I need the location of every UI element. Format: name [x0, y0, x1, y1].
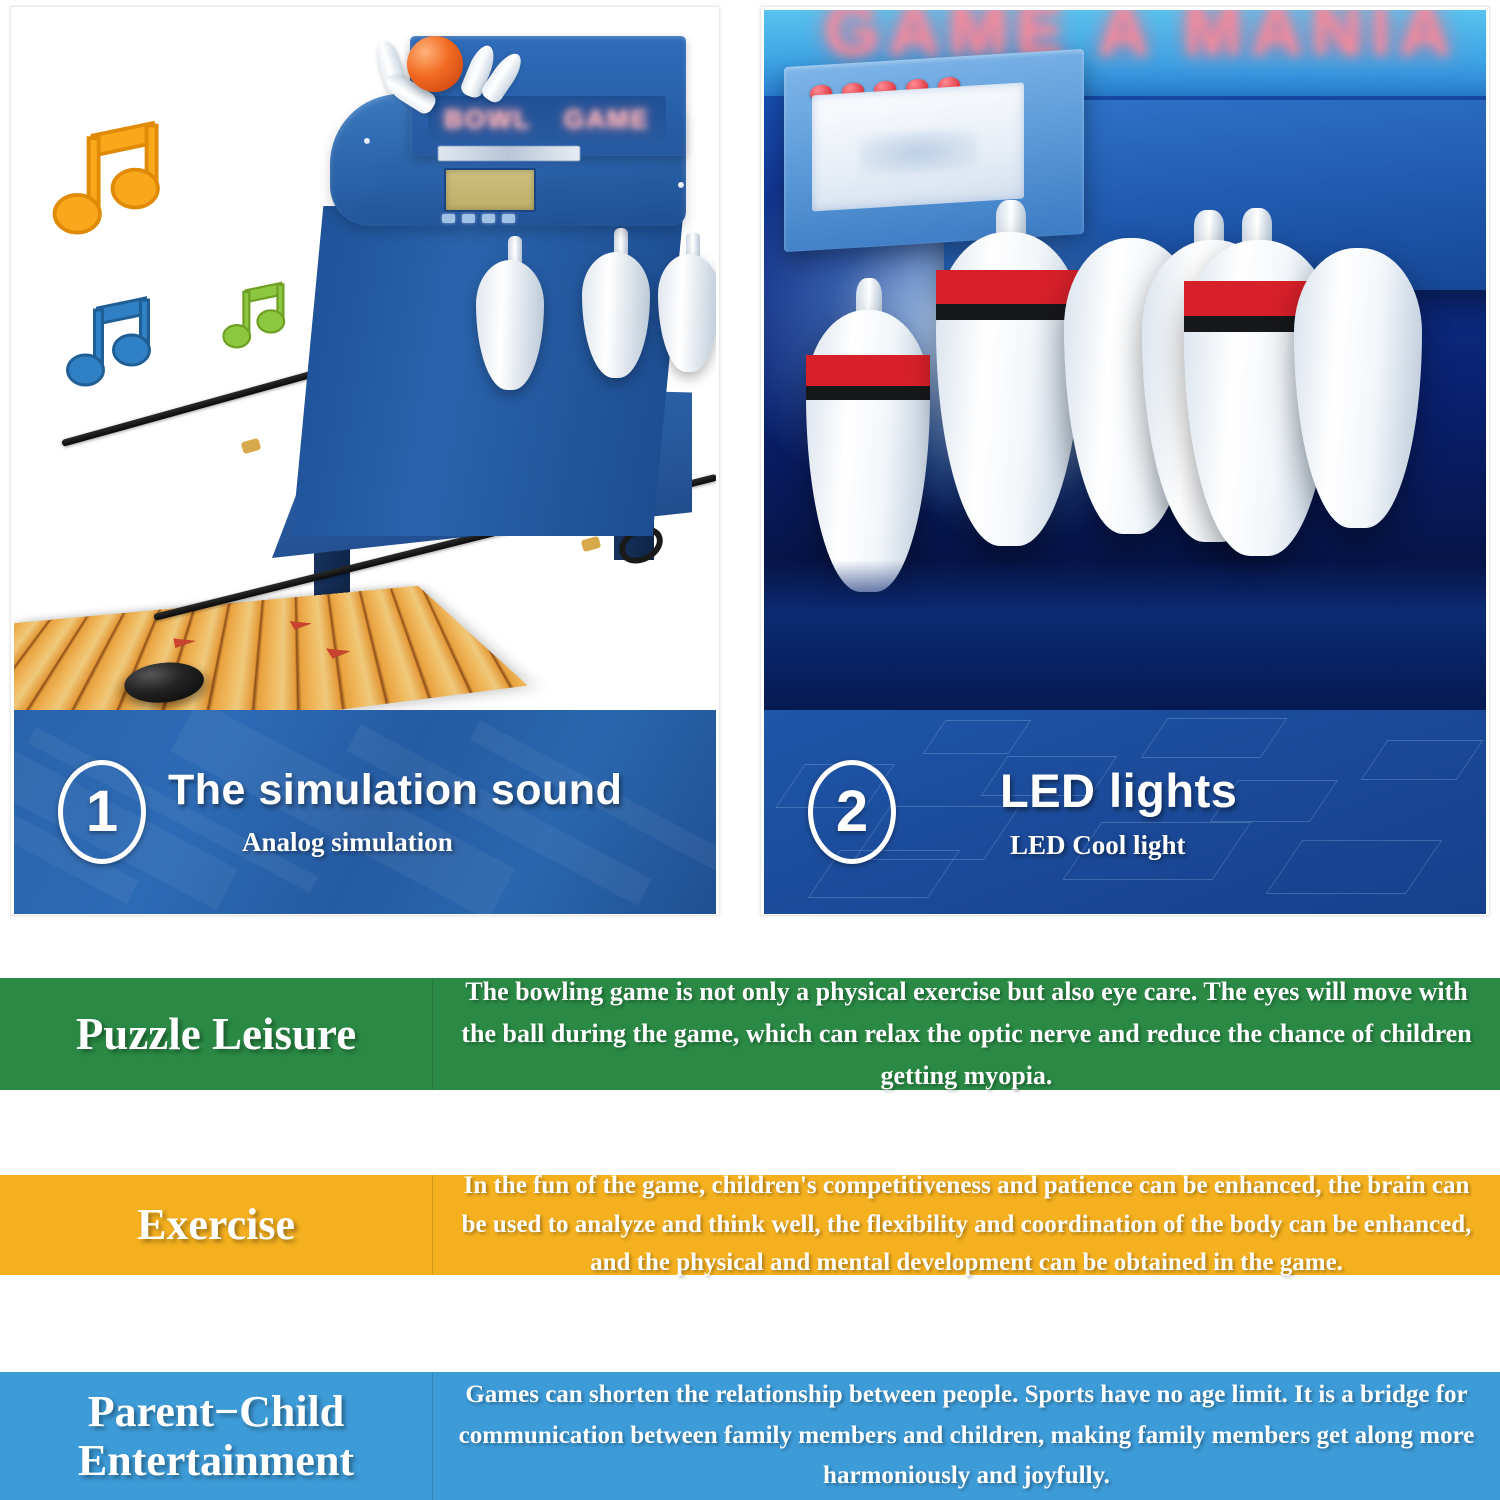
benefit-label-parent-child: Parent−Child Entertainment: [0, 1372, 433, 1500]
feature-panel-1[interactable]: BOWL GAME: [10, 6, 720, 916]
lane-arrow-2: [290, 619, 315, 629]
feature-number-badge-2: 2: [808, 760, 896, 864]
rail-collar: [241, 438, 262, 454]
feature-number-badge-1: 1: [58, 760, 146, 864]
bowling-ball: [123, 659, 209, 707]
product-feature-infographic: BOWL GAME: [0, 0, 1500, 1500]
benefit-label-puzzle-leisure: Puzzle Leisure: [0, 978, 433, 1090]
machine-label-sticker: [438, 146, 580, 161]
machine-marquee-display: BOWL GAME: [428, 96, 666, 142]
machine-button-row[interactable]: [442, 214, 515, 223]
product-photo-led-pins: GAME A MANIA: [764, 10, 1486, 710]
feature-caption-1: 1 The simulation sound Analog simulation: [14, 710, 716, 914]
machine-floor-shadow: [764, 560, 1486, 710]
machine-button-4[interactable]: [502, 214, 515, 223]
decor-bowling-ball: [407, 36, 463, 92]
deck-screw-1: [364, 138, 370, 144]
led-pin-1: [806, 310, 930, 592]
benefit-bar-exercise: Exercise In the fun of the game, childre…: [0, 1175, 1500, 1275]
benefit-bar-parent-child: Parent−Child Entertainment Games can sho…: [0, 1372, 1500, 1500]
feature-panels: BOWL GAME: [0, 0, 1500, 960]
feature-subtitle-1: Analog simulation: [242, 827, 716, 858]
feature-title-1: The simulation sound: [168, 766, 716, 815]
music-note-blue-icon: [59, 294, 164, 394]
deck-screw-4: [678, 182, 684, 188]
benefit-text-parent-child: Games can shorten the relationship betwe…: [433, 1372, 1500, 1500]
console-display-window: [812, 82, 1024, 211]
lane-arrow-3: [326, 646, 354, 658]
machine-button-2[interactable]: [462, 214, 475, 223]
benefit-label-exercise: Exercise: [0, 1175, 433, 1275]
music-note-green-icon: [217, 280, 295, 354]
machine-button-1[interactable]: [442, 214, 455, 223]
rail-collar-2: [581, 536, 602, 552]
benefit-text-puzzle-leisure: The bowling game is not only a physical …: [433, 978, 1500, 1090]
marquee-text-left: BOWL: [444, 104, 531, 135]
feature-text-block-2: LED lights LED Cool light: [896, 763, 1486, 861]
feature-panel-2[interactable]: GAME A MANIA: [760, 6, 1490, 916]
product-photo-bowling-machine: BOWL GAME: [14, 10, 716, 710]
feature-caption-2: 2 LED lights LED Cool light: [764, 710, 1486, 914]
machine-lcd-score-display: [444, 168, 536, 212]
feature-text-block-1: The simulation sound Analog simulation: [146, 766, 716, 858]
marquee-text-right: GAME: [564, 104, 650, 135]
benefit-text-exercise: In the fun of the game, children's compe…: [433, 1175, 1500, 1275]
feature-subtitle-2: LED Cool light: [1010, 830, 1486, 861]
bowling-lane: [14, 586, 528, 710]
machine-button-3[interactable]: [482, 214, 495, 223]
benefit-bar-puzzle-leisure: Puzzle Leisure The bowling game is not o…: [0, 978, 1500, 1090]
lane-arrow-1: [173, 636, 197, 648]
music-note-orange-icon: [44, 118, 176, 244]
feature-title-2: LED lights: [1000, 763, 1486, 818]
